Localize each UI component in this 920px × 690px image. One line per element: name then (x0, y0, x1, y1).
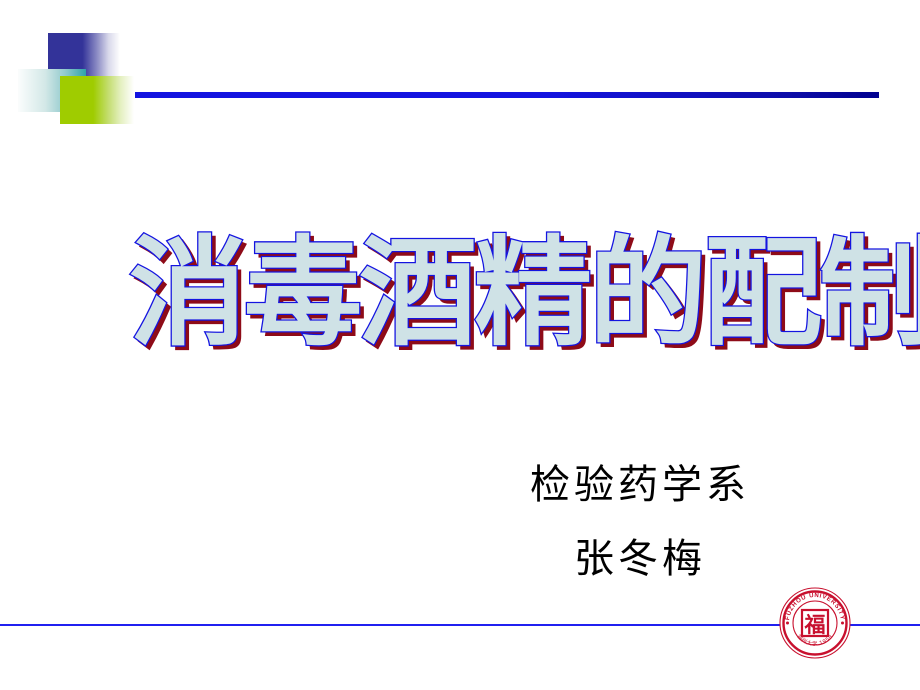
subtitle-line-author: 张冬梅 (440, 522, 840, 596)
seal-icon: FUZHOU UNIVERSITY 福州大学 1958 福 (778, 586, 852, 660)
green-gradient-block (60, 76, 134, 124)
page-title: 消毒酒精的配制 消毒酒精的配制 (0, 222, 920, 362)
top-rule (135, 92, 879, 98)
subtitle-line-department: 检验药学系 (440, 448, 840, 522)
title-wordart: 消毒酒精的配制 消毒酒精的配制 (0, 222, 920, 362)
title-main-layer: 消毒酒精的配制 (129, 224, 920, 362)
university-seal-logo: FUZHOU UNIVERSITY 福州大学 1958 福 (778, 586, 852, 660)
seal-center-glyph: 福 (804, 613, 826, 637)
subtitle-block: 检验药学系 张冬梅 (440, 448, 840, 596)
presentation-slide: 消毒酒精的配制 消毒酒精的配制 检验药学系 张冬梅 FUZHOU UNIVERS… (0, 0, 920, 690)
